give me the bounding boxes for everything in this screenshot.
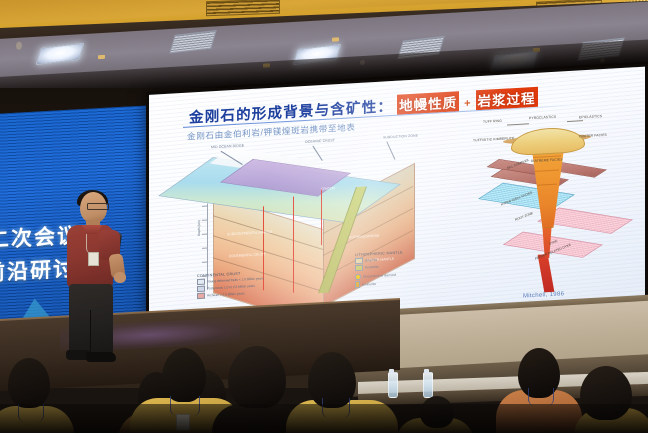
presenter-speaker xyxy=(52,192,132,370)
glasses-icon xyxy=(87,203,109,210)
legend-label-peridotite: Peridotite xyxy=(365,265,378,270)
crater-facies xyxy=(511,126,585,156)
water-bottle-cap-2 xyxy=(424,369,429,373)
water-bottle-1 xyxy=(388,372,398,398)
legend-swatch-proterozoic xyxy=(197,286,205,292)
legend-swatch-graphite xyxy=(355,258,363,264)
legend-swatch-young xyxy=(197,279,205,285)
ceiling-light-1 xyxy=(35,43,84,66)
presenter-badge xyxy=(88,252,99,266)
conference-photo-scene: 二次会议 前沿研讨 金刚石的形成背景与含矿性： 地幔性质 + 岩浆过程 金刚石由… xyxy=(0,0,648,433)
audience-head-5 xyxy=(228,346,286,408)
legend-swatch-diamond xyxy=(355,274,361,280)
pipe-label-4: CRATER FACIES xyxy=(579,133,607,139)
kimberlite-pipe-2 xyxy=(293,197,294,293)
water-bottle-2 xyxy=(423,372,433,398)
depth-axis-label: Depth (km) xyxy=(197,220,201,236)
figure-left-label-3: CRATON xyxy=(321,186,335,191)
audience-head-1 xyxy=(8,358,50,408)
figure-left-label-2: SUBDUCTION ZONE xyxy=(383,134,418,140)
legend-swatch-archean xyxy=(197,293,205,299)
presenter-shoe-right xyxy=(86,352,116,362)
foreground-shadow xyxy=(0,404,648,433)
presenter-leg-seam xyxy=(90,310,91,356)
figure-lithosphere-block-diagram: Depth (km) MID OCEAN RIDGE OCEANIC C xyxy=(187,129,455,314)
pipe-leader-2 xyxy=(567,120,583,121)
figure-right-caption: Mitchell, 1986 xyxy=(523,291,564,299)
pipe-label-1: PYROCLASTICS xyxy=(529,115,556,121)
kimberlite-pipe-3 xyxy=(321,189,322,245)
water-bottle-cap-1 xyxy=(389,369,394,373)
ceiling-speaker-1 xyxy=(16,42,22,50)
pipe-label-8: ROOT ZONE xyxy=(514,211,533,222)
presenter-hand xyxy=(114,272,126,283)
legend-label-diamond: Occurrence of diamond xyxy=(363,273,396,279)
figure-left-leader-2 xyxy=(387,141,396,159)
legend-label-graphite: Graphite xyxy=(365,258,377,263)
legend-lithospheric-mantle: LITHOSPHERIC MANTLE Graphite Peridotite … xyxy=(355,248,449,289)
legend-label-kimberlite: Kimberlite xyxy=(362,282,376,287)
pipe-leader-1 xyxy=(507,123,529,125)
feeder-dyke xyxy=(538,254,555,292)
ceiling-vent-1 xyxy=(169,30,217,53)
audience-head-4 xyxy=(162,348,206,402)
ceiling-amber-light-1 xyxy=(98,55,105,59)
pipe-label-2: EPICLASTICS xyxy=(579,114,602,119)
figure-kimberlite-pipe-model: TUFF RING PYROCLASTICS EPICLASTICS TUFFI… xyxy=(467,111,631,300)
ceiling-amber-light-2 xyxy=(332,37,339,41)
figure-left-label-1: OCEANIC CRUST xyxy=(305,138,335,144)
pipe-label-0: TUFF RING xyxy=(483,119,502,124)
slide-title-plus: + xyxy=(463,98,471,110)
figure-left-leader-1 xyxy=(313,146,323,161)
ceiling-vent-grille-left xyxy=(206,0,280,16)
legend-swatch-peridotite xyxy=(355,265,363,271)
legend-swatch-kimberlite xyxy=(355,281,360,288)
slide-title-plain: 金刚石的形成背景与含矿性： xyxy=(189,95,393,128)
